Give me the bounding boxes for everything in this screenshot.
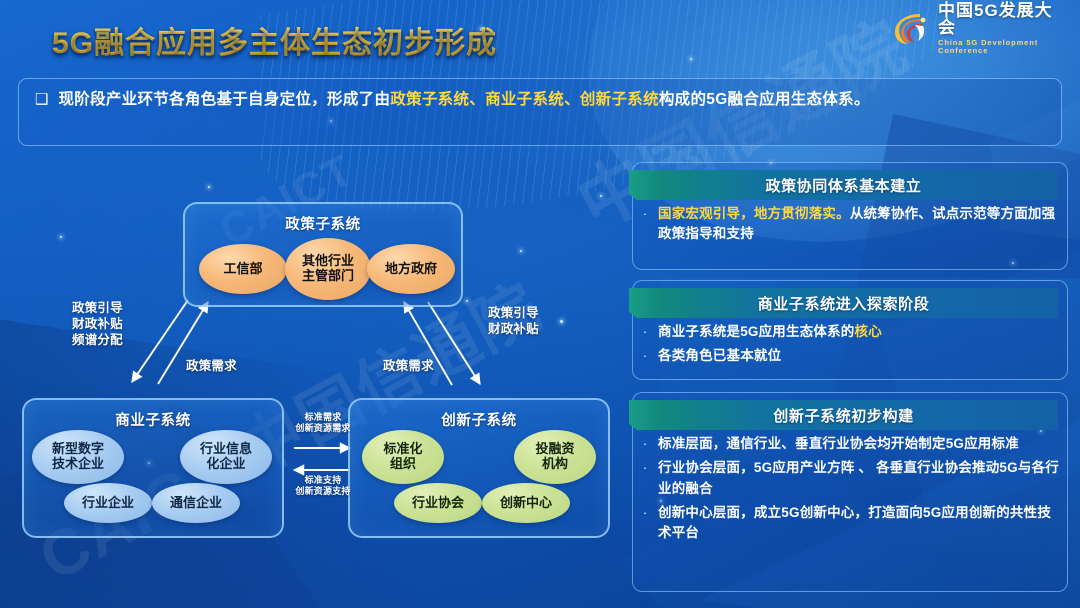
card-body: ·国家宏观引导，地方贯彻落实。从统筹协作、试点示范等方面加强政策指导和支持 [640,204,1060,249]
card-bullet-row: ·商业子系统是5G应用生态体系的核心 [640,322,1060,342]
highlighted-term: 国家宏观引导，地方贯彻落实。 [658,206,850,221]
ecosystem-diagram: 政策子系统 工信部 其他行业 主管部门 地方政府 商业子系统 新型数字 技术企业 [0,150,630,608]
node-business-2: 行业企业 [64,483,152,523]
node-innovation-1: 投融资 机构 [514,430,596,484]
plain-text: 构成的5G融合应用生态体系。 [659,91,870,108]
flame-swirl-icon [890,7,932,49]
arrow-label-left-up: 政策需求 [186,358,237,374]
node-innovation-3: 创新中心 [482,483,570,523]
card-bullet-text: 创新中心层面，成立5G创新中心，打造面向5G应用创新的共性技术平台 [658,503,1060,544]
card-bullet-row: ·标准层面，通信行业、垂直行业协会均开始制定5G应用标准 [640,434,1060,454]
bullet-dot-icon: · [640,434,650,454]
innovation-subsystem-title: 创新子系统 [350,409,608,430]
logo-title-cn: 中国5G发展大会 [938,2,1064,36]
card-body: ·标准层面，通信行业、垂直行业协会均开始制定5G应用标准·行业协会层面，5G应用… [640,434,1060,547]
summary-callout-text: 现阶段产业环节各角色基于自身定位，形成了由政策子系统、商业子系统、创新子系统构成… [58,88,869,145]
card-bullet-text: 商业子系统是5G应用生态体系的核心 [658,322,882,342]
node-policy-2: 地方政府 [367,244,455,294]
card-title: 商业子系统进入探索阶段 [629,288,1058,318]
summary-callout: ❑ 现阶段产业环节各角色基于自身定位，形成了由政策子系统、商业子系统、创新子系统… [18,78,1062,146]
hollow-square-bullet-icon: ❑ [35,88,48,145]
arrow-label-mid-left: 标准支持 创新资源支持 [289,475,357,497]
card-business-exploration: 商业子系统进入探索阶段 ·商业子系统是5G应用生态体系的核心·各类角色已基本就位 [632,280,1068,380]
business-subsystem-box: 商业子系统 新型数字 技术企业 行业信息 化企业 行业企业 通信企业 [22,398,284,538]
conference-logo: 中国5G发展大会 China 5G Development Conference [884,4,1070,52]
bullet-dot-icon: · [640,346,650,366]
card-bullet-text: 国家宏观引导，地方贯彻落实。从统筹协作、试点示范等方面加强政策指导和支持 [658,204,1060,245]
card-bullet-row: ·创新中心层面，成立5G创新中心，打造面向5G应用创新的共性技术平台 [640,503,1060,544]
policy-subsystem-title: 政策子系统 [185,213,461,234]
card-innovation-buildout: 创新子系统初步构建 ·标准层面，通信行业、垂直行业协会均开始制定5G应用标准·行… [632,392,1068,592]
card-policy-coordination: 政策协同体系基本建立 ·国家宏观引导，地方贯彻落实。从统筹协作、试点示范等方面加… [632,162,1068,270]
plain-text: 创新中心层面，成立5G创新中心，打造面向5G应用创新的共性技术平台 [658,505,1051,540]
arrow-label-mid-right: 标准需求 创新资源需求 [291,412,355,434]
card-bullet-row: ·各类角色已基本就位 [640,346,1060,366]
node-policy-0: 工信部 [199,244,287,294]
bullet-dot-icon: · [640,458,650,499]
node-business-0: 新型数字 技术企业 [32,430,124,484]
highlighted-term: 核心 [855,324,882,339]
card-bullet-text: 行业协会层面，5G应用产业方阵 、 各垂直行业协会推动5G与各行业的融合 [658,458,1060,499]
card-bullet-row: ·国家宏观引导，地方贯彻落实。从统筹协作、试点示范等方面加强政策指导和支持 [640,204,1060,245]
node-innovation-0: 标准化 组织 [362,430,444,484]
card-bullet-text: 标准层面，通信行业、垂直行业协会均开始制定5G应用标准 [658,434,1019,454]
plain-text: 商业子系统是5G应用生态体系的 [658,324,855,339]
arrow-label-right-down: 政策引导 财政补贴 [488,305,539,337]
node-policy-1: 其他行业 主管部门 [285,238,371,300]
slide-canvas: CAICT 中国信通院 中国信通院 CAICT 5G融合应用多主体生态初步形成 … [0,0,1080,608]
highlighted-term: 政策子系统、商业子系统、创新子系统 [390,91,659,108]
node-innovation-2: 行业协会 [394,483,482,523]
page-title: 5G融合应用多主体生态初步形成 [52,18,497,62]
plain-text: 标准层面，通信行业、垂直行业协会均开始制定5G应用标准 [658,436,1019,451]
innovation-subsystem-box: 创新子系统 标准化 组织 投融资 机构 行业协会 创新中心 [348,398,610,538]
card-title: 创新子系统初步构建 [629,400,1058,430]
plain-text: 各类角色已基本就位 [658,348,781,363]
arrow-label-right-up: 政策需求 [383,358,434,374]
node-business-3: 通信企业 [152,483,240,523]
plain-text: 行业协会层面，5G应用产业方阵 、 各垂直行业协会推动5G与各行业的融合 [658,460,1059,495]
bullet-dot-icon: · [640,503,650,544]
arrow-label-left-down: 政策引导 财政补贴 频谱分配 [72,300,123,348]
logo-title-en: China 5G Development Conference [938,39,1064,54]
bullet-dot-icon: · [640,322,650,342]
business-subsystem-title: 商业子系统 [24,409,282,430]
plain-text: 现阶段产业环节各角色基于自身定位，形成了由 [58,91,390,108]
node-business-1: 行业信息 化企业 [180,430,272,484]
card-body: ·商业子系统是5G应用生态体系的核心·各类角色已基本就位 [640,322,1060,371]
policy-subsystem-box: 政策子系统 工信部 其他行业 主管部门 地方政府 [183,202,463,307]
bullet-dot-icon: · [640,204,650,245]
card-title: 政策协同体系基本建立 [629,170,1058,200]
card-bullet-row: ·行业协会层面，5G应用产业方阵 、 各垂直行业协会推动5G与各行业的融合 [640,458,1060,499]
card-bullet-text: 各类角色已基本就位 [658,346,781,366]
